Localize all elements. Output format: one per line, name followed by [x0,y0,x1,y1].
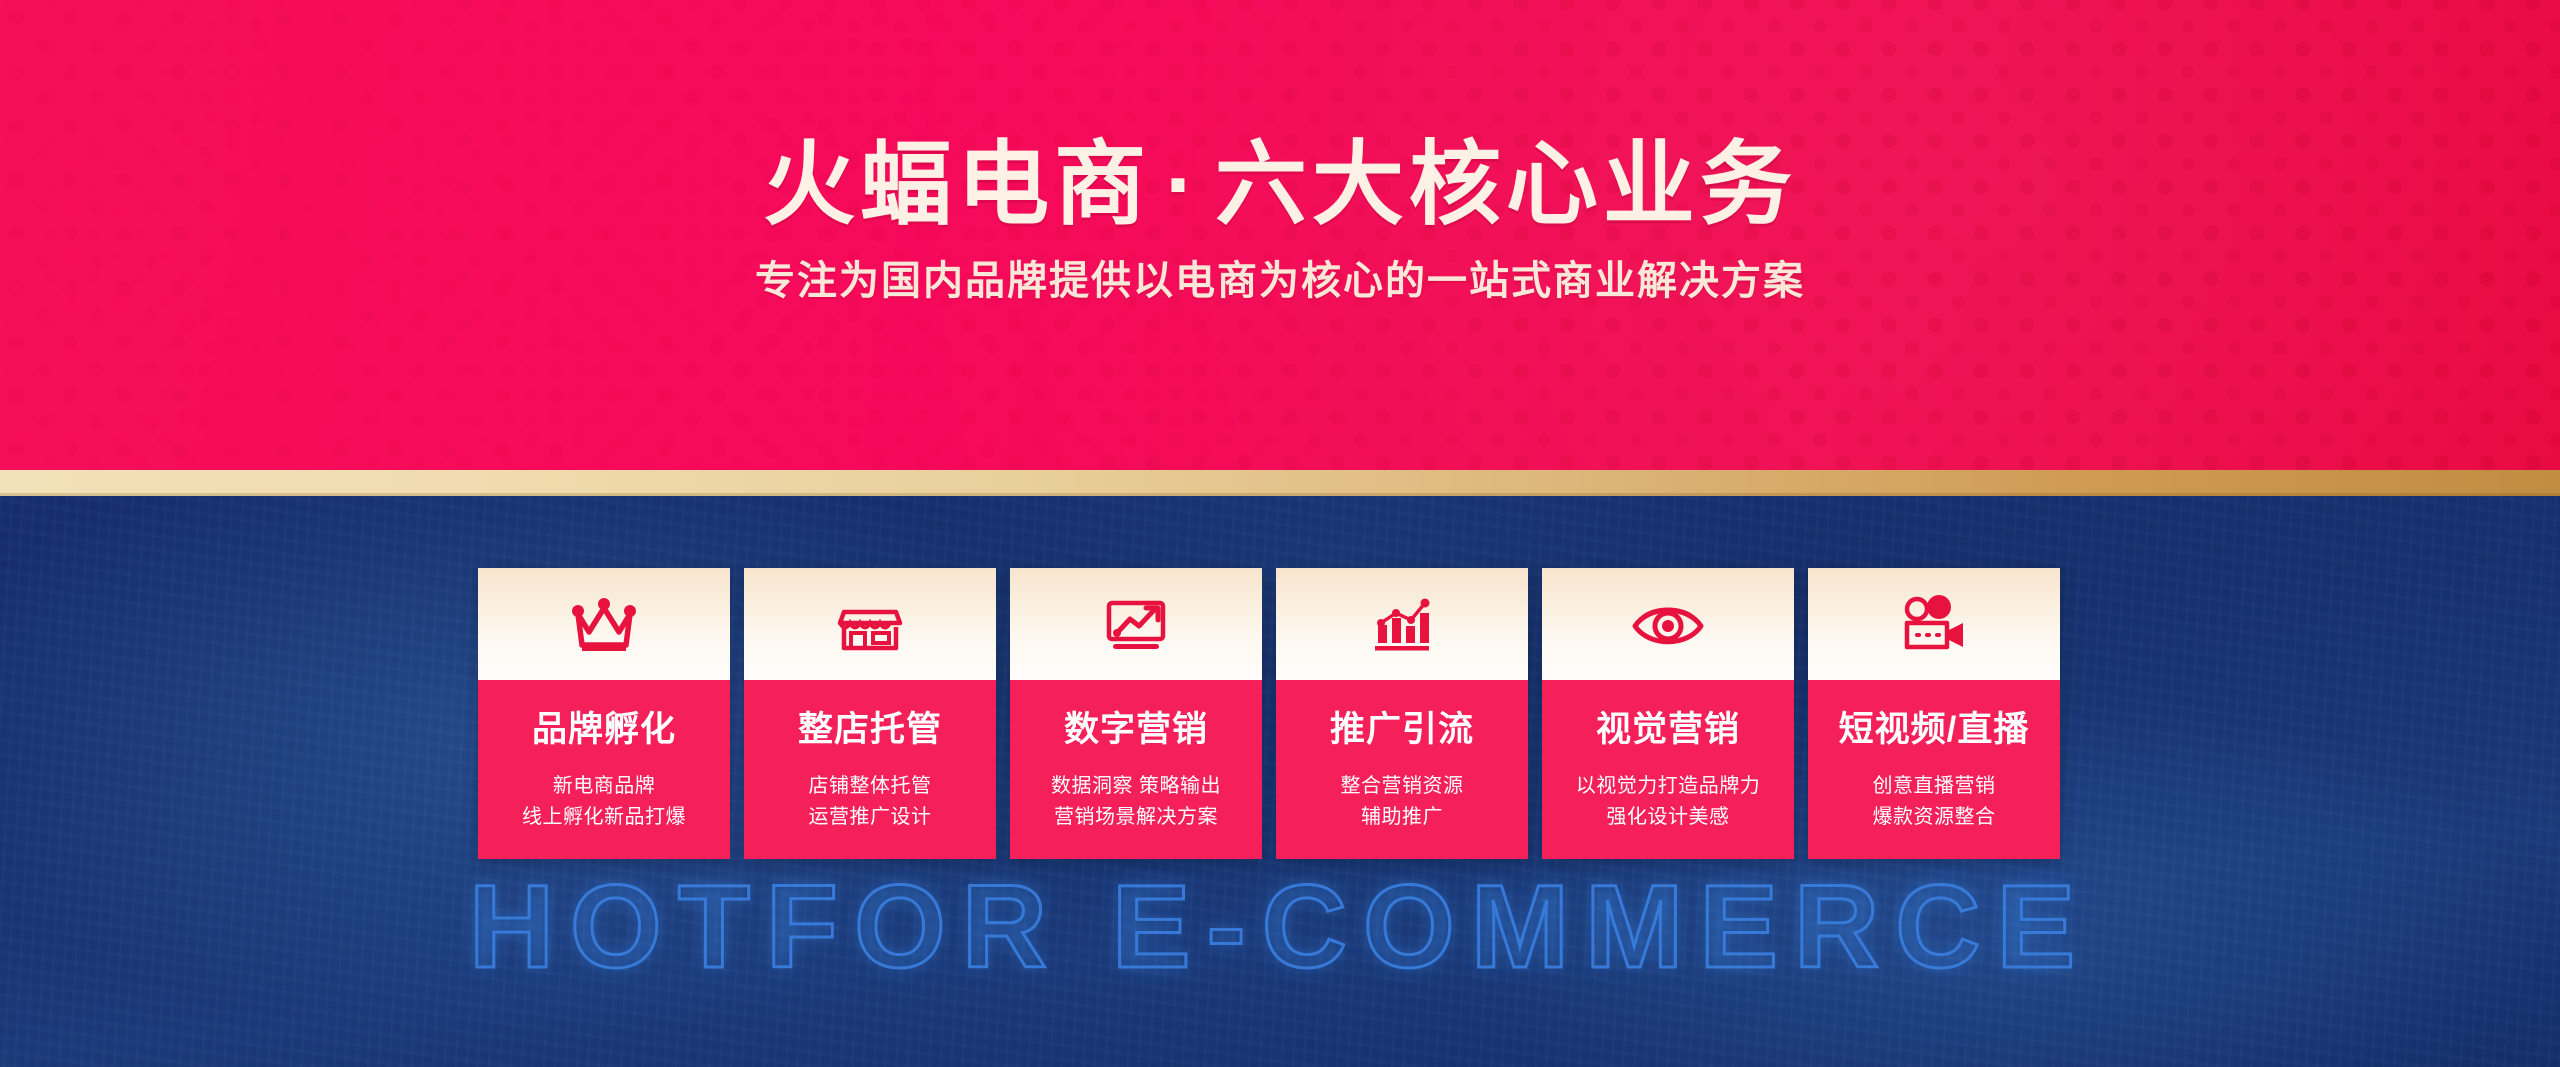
card-title: 视觉营销 [1552,712,1784,747]
card-description: 数据洞察 策略输出 营销场景解决方案 [1020,771,1252,833]
card-title: 短视频/直播 [1818,712,2050,747]
card-description: 整合营销资源 辅助推广 [1286,771,1518,833]
card-desc-line-2: 辅助推广 [1286,802,1518,833]
service-card-short-video-live[interactable]: 短视频/直播 创意直播营销 爆款资源整合 [1808,568,2060,859]
page-title: 火蝠电商·六大核心业务 [763,139,1797,231]
card-desc-line-1: 整合营销资源 [1286,771,1518,802]
card-description: 以视觉力打造品牌力 强化设计美感 [1552,771,1784,833]
card-desc-line-1: 数据洞察 策略输出 [1020,771,1252,802]
card-desc-line-2: 强化设计美感 [1552,802,1784,833]
card-title: 数字营销 [1020,712,1252,747]
page-title-part-1: 火蝠电商 [763,134,1151,236]
title-separator: · [1151,134,1215,236]
storefront-icon [835,593,905,655]
card-desc-line-1: 创意直播营销 [1818,771,2050,802]
card-description: 新电商品牌 线上孵化新品打爆 [488,771,720,833]
promo-banner-page: 火蝠电商·六大核心业务 专注为国内品牌提供以电商为核心的一站式商业解决方案 [0,0,2560,1067]
card-desc-line-2: 运营推广设计 [754,802,986,833]
card-icon-panel [1010,568,1262,680]
card-body: 短视频/直播 创意直播营销 爆款资源整合 [1808,680,2060,859]
service-card-brand-incubation[interactable]: 品牌孵化 新电商品牌 线上孵化新品打爆 [478,568,730,859]
crown-icon [569,593,639,655]
page-title-part-2: 六大核心业务 [1215,134,1797,236]
card-title: 整店托管 [754,712,986,747]
hero-banner: 火蝠电商·六大核心业务 专注为国内品牌提供以电商为核心的一站式商业解决方案 [0,0,2560,470]
card-body: 品牌孵化 新电商品牌 线上孵化新品打爆 [478,680,730,859]
card-desc-line-2: 爆款资源整合 [1818,802,2050,833]
brand-wordmark: HOTFOR E-COMMERCE [0,868,2560,986]
bar-chart-icon [1367,593,1437,655]
card-desc-line-2: 营销场景解决方案 [1020,802,1252,833]
card-body: 数字营销 数据洞察 策略输出 营销场景解决方案 [1010,680,1262,859]
card-description: 创意直播营销 爆款资源整合 [1818,771,2050,833]
card-body: 视觉营销 以视觉力打造品牌力 强化设计美感 [1542,680,1794,859]
card-desc-line-1: 店铺整体托管 [754,771,986,802]
gold-divider [0,470,2560,496]
service-card-traffic-promotion[interactable]: 推广引流 整合营销资源 辅助推广 [1276,568,1528,859]
card-icon-panel [1808,568,2060,680]
card-title: 推广引流 [1286,712,1518,747]
card-description: 店铺整体托管 运营推广设计 [754,771,986,833]
service-card-list: 品牌孵化 新电商品牌 线上孵化新品打爆 [478,568,2090,859]
card-icon-panel [1542,568,1794,680]
trend-chart-icon [1101,593,1171,655]
card-icon-panel [478,568,730,680]
video-camera-icon [1897,593,1971,655]
eye-icon [1629,593,1707,655]
service-card-visual-marketing[interactable]: 视觉营销 以视觉力打造品牌力 强化设计美感 [1542,568,1794,859]
page-subtitle: 专注为国内品牌提供以电商为核心的一站式商业解决方案 [755,261,1805,301]
service-card-digital-marketing[interactable]: 数字营销 数据洞察 策略输出 营销场景解决方案 [1010,568,1262,859]
card-body: 推广引流 整合营销资源 辅助推广 [1276,680,1528,859]
card-desc-line-1: 新电商品牌 [488,771,720,802]
service-card-store-management[interactable]: 整店托管 店铺整体托管 运营推广设计 [744,568,996,859]
card-title: 品牌孵化 [488,712,720,747]
card-icon-panel [1276,568,1528,680]
card-desc-line-1: 以视觉力打造品牌力 [1552,771,1784,802]
card-body: 整店托管 店铺整体托管 运营推广设计 [744,680,996,859]
card-icon-panel [744,568,996,680]
services-section: 品牌孵化 新电商品牌 线上孵化新品打爆 [0,496,2560,1067]
card-desc-line-2: 线上孵化新品打爆 [488,802,720,833]
